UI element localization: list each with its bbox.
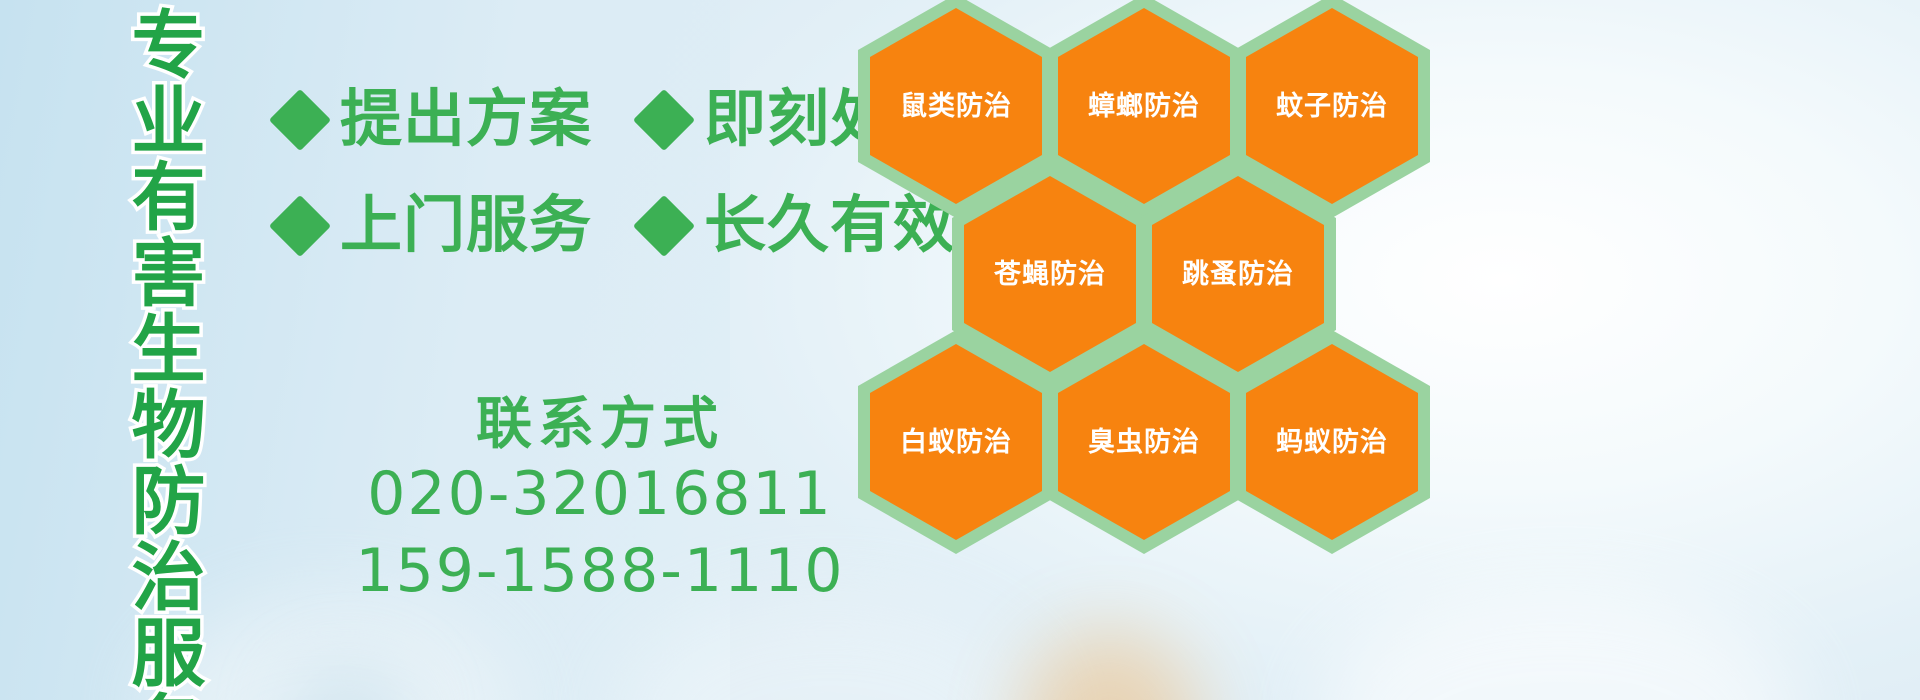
diamond-bullet-icon xyxy=(269,195,331,257)
service-hexagon-grid: 鼠类防治 蟑螂防治 蚊子防治 苍蝇防治 跳蚤防治 白蚁防治 xyxy=(852,0,1472,546)
hex-label: 跳蚤防治 xyxy=(1182,261,1294,288)
bullet-row: 上门服务 长久有效 xyxy=(278,184,898,268)
background-blob xyxy=(620,600,1040,700)
diamond-bullet-icon xyxy=(633,195,695,257)
background-blob xyxy=(1320,590,1800,700)
banner-stage: 专业有害生物防治服务 提出方案 即刻处理 上门服务 长久有效 联系方式 020-… xyxy=(0,0,1920,700)
hex-inner: 蚊子防治 xyxy=(1246,8,1418,204)
bullet-label-propose-plan: 提出方案 xyxy=(340,89,592,151)
hex-label: 鼠类防治 xyxy=(900,93,1012,120)
hex-inner: 臭虫防治 xyxy=(1058,344,1230,540)
contact-block: 联系方式 020-32016811 159-1588-1110 xyxy=(300,392,900,610)
contact-phone-mobile[interactable]: 159-1588-1110 xyxy=(300,533,900,610)
hex-label: 蚊子防治 xyxy=(1276,93,1388,120)
hex-label: 臭虫防治 xyxy=(1088,429,1200,456)
hex-inner: 蟑螂防治 xyxy=(1058,8,1230,204)
diamond-bullet-icon xyxy=(269,89,331,151)
hex-inner: 苍蝇防治 xyxy=(964,176,1136,372)
hex-inner: 白蚁防治 xyxy=(870,344,1042,540)
contact-phone-landline[interactable]: 020-32016811 xyxy=(300,456,900,533)
vertical-headline: 专业有害生物防治服务 xyxy=(108,6,200,700)
hex-label: 苍蝇防治 xyxy=(994,261,1106,288)
bullet-label-onsite-service: 上门服务 xyxy=(340,195,592,257)
feature-bullet-list: 提出方案 即刻处理 上门服务 长久有效 xyxy=(278,78,898,290)
bullet-row: 提出方案 即刻处理 xyxy=(278,78,898,162)
hex-label: 蟑螂防治 xyxy=(1088,93,1200,120)
hex-inner: 鼠类防治 xyxy=(870,8,1042,204)
hex-label: 蚂蚁防治 xyxy=(1276,429,1388,456)
diamond-bullet-icon xyxy=(633,89,695,151)
background-blob xyxy=(1020,630,1200,700)
hex-inner: 蚂蚁防治 xyxy=(1246,344,1418,540)
contact-heading: 联系方式 xyxy=(300,392,900,456)
hex-label: 白蚁防治 xyxy=(900,429,1012,456)
hex-inner: 跳蚤防治 xyxy=(1152,176,1324,372)
